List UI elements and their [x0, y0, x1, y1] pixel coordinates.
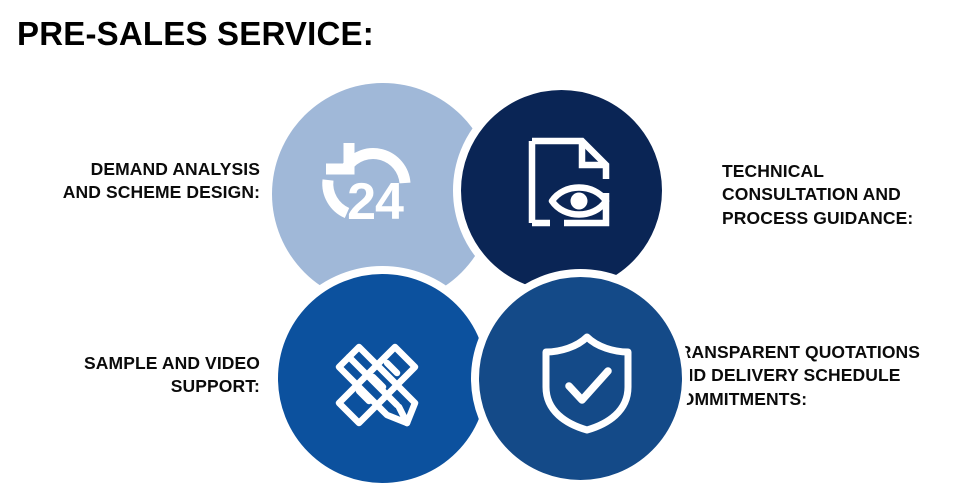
infographic-canvas: PRE-SALES SERVICE: 24: [0, 0, 960, 498]
label-transparent-quotations: TRANSPARENT QUOTATIONS AND DELIVERY SCHE…: [668, 341, 960, 411]
svg-text:24: 24: [347, 173, 404, 231]
circle-sample-video-support[interactable]: [270, 266, 495, 491]
label-technical-consultation: TECHNICAL CONSULTATION AND PROCESS GUIDA…: [722, 160, 952, 230]
circle-cluster: 24: [0, 0, 960, 498]
pen-ruler-icon: [272, 280, 481, 489]
shield-check-icon: [485, 281, 688, 484]
label-sample-video-support: SAMPLE AND VIDEO SUPPORT:: [10, 352, 260, 399]
document-eye-icon: [469, 82, 670, 283]
label-demand-analysis: DEMAND ANALYSIS AND SCHEME DESIGN:: [10, 158, 260, 205]
rotation-24-icon: 24: [258, 73, 480, 295]
circle-technical-consultation[interactable]: [453, 82, 670, 299]
circle-transparent-quotations[interactable]: [471, 269, 690, 488]
